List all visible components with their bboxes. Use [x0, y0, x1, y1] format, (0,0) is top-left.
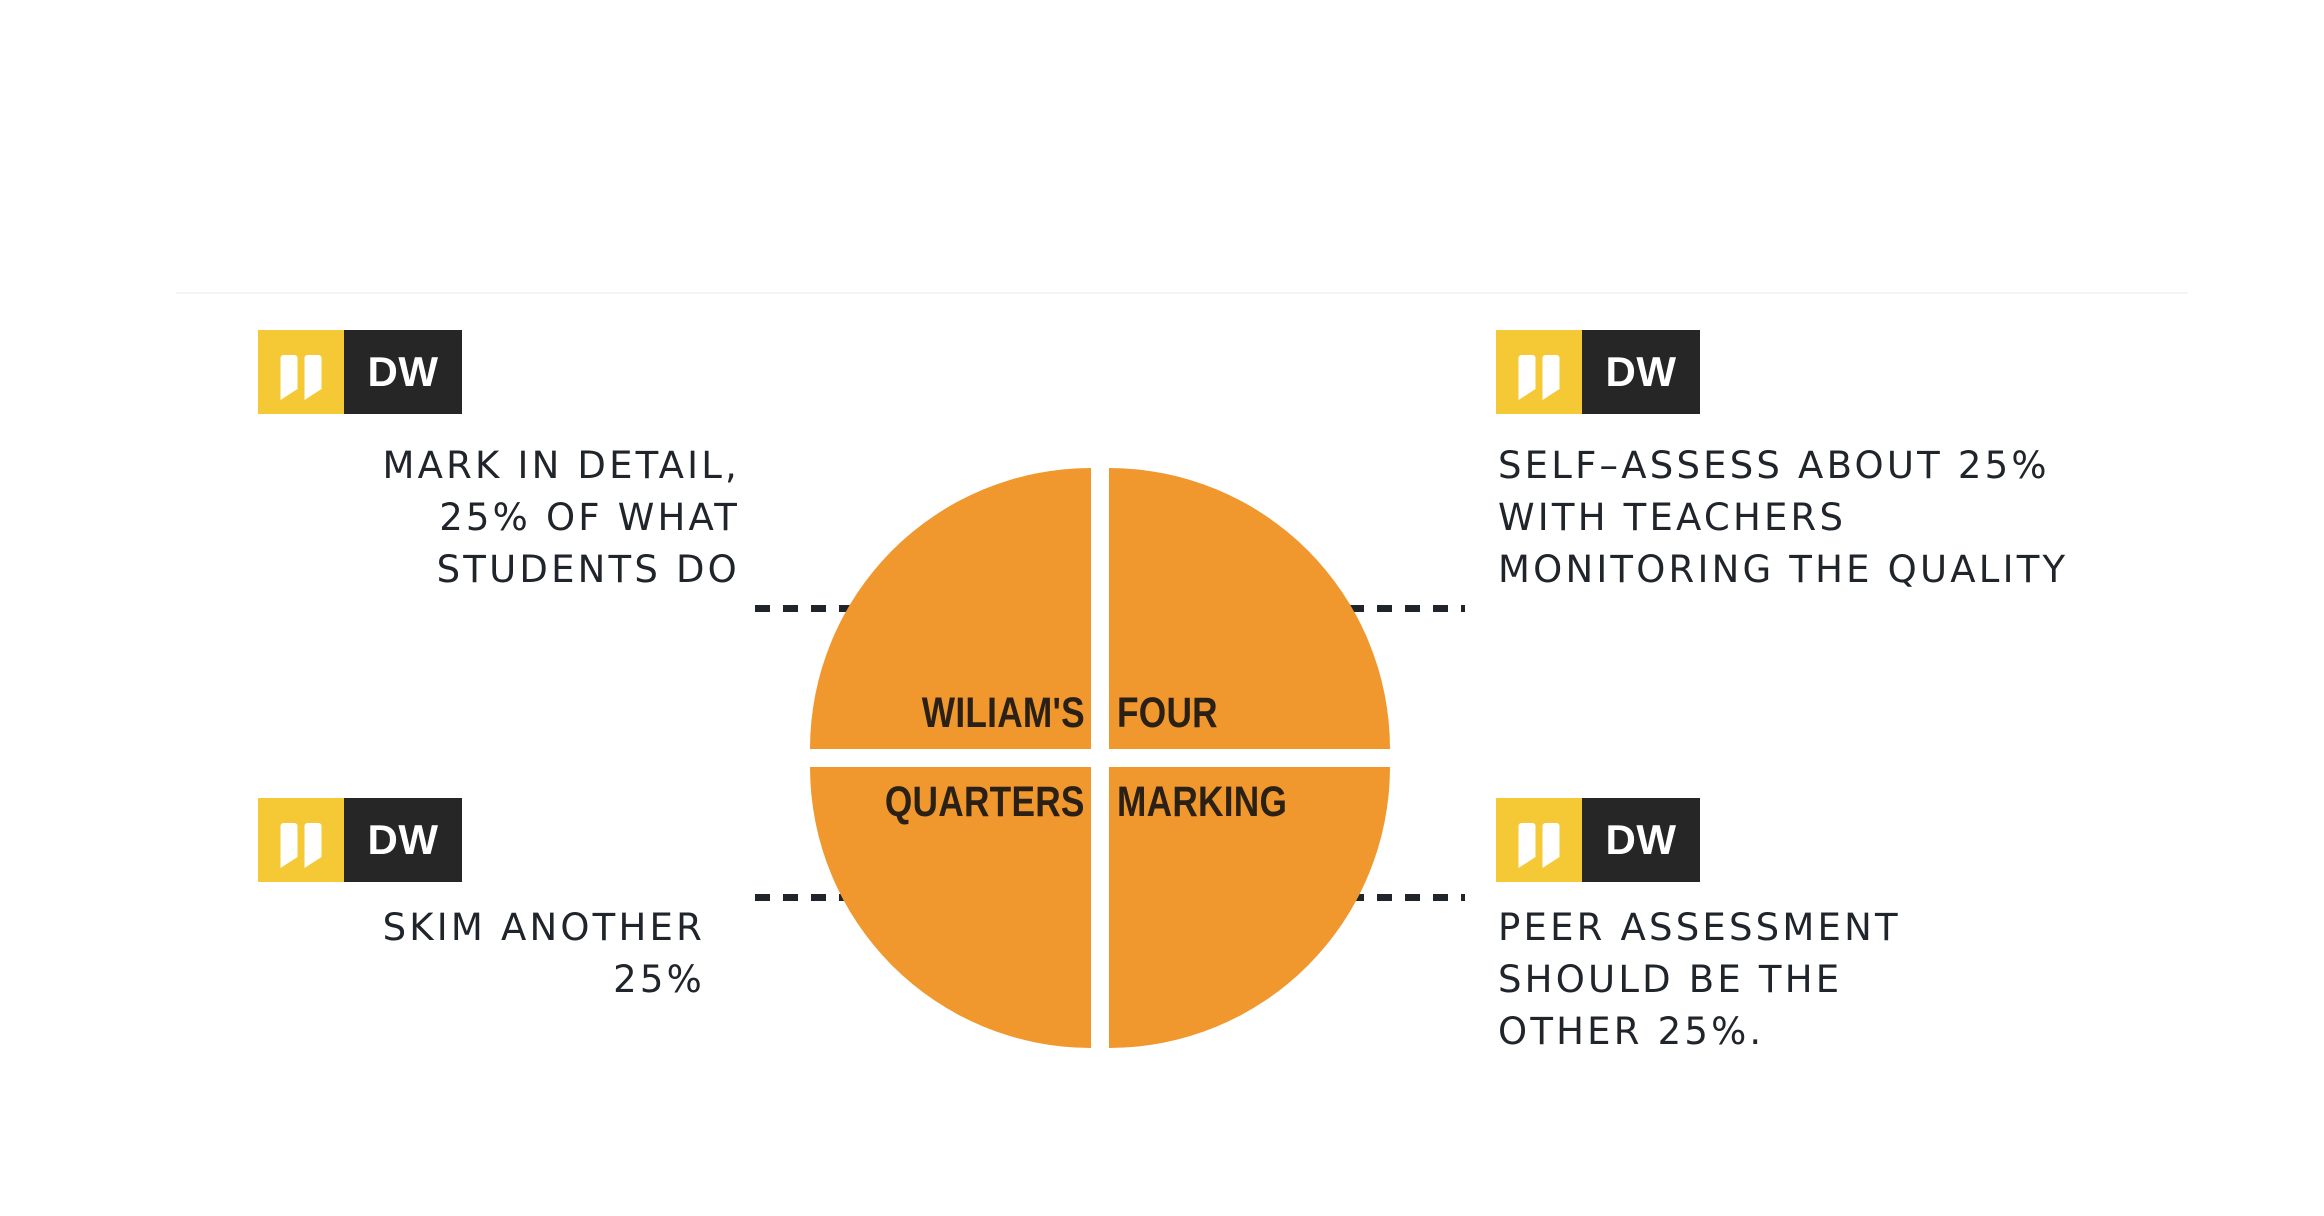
callout-line: 25% [200, 954, 705, 1006]
quote-mark-icon [258, 330, 344, 414]
quadrant-top-right: FOUR [1109, 468, 1390, 749]
quadrant-bottom-right: MARKING [1109, 767, 1390, 1048]
quadrant-bottom-left: QUARTERS [810, 767, 1091, 1048]
top-divider-rule [176, 292, 2188, 294]
callout-text-skim-another: SKIM ANOTHER 25% [200, 902, 705, 1006]
quote-mark-icon [1496, 798, 1582, 882]
double-quote-icon [1519, 823, 1560, 857]
dw-badge-self-assess: DW [1496, 330, 1700, 414]
callout-line: SKIM ANOTHER [200, 902, 705, 954]
callout-line: PEER ASSESSMENT [1498, 902, 2198, 954]
dw-initials-label: DW [344, 798, 462, 882]
double-quote-icon [1519, 355, 1560, 389]
quadrant-label: MARKING [1117, 781, 1287, 824]
callout-line: WITH TEACHERS [1498, 492, 2218, 544]
quote-mark-icon [258, 798, 344, 882]
callout-line: 25% OF WHAT [200, 492, 740, 544]
dw-initials-label: DW [1582, 798, 1700, 882]
callout-text-peer-assessment: PEER ASSESSMENT SHOULD BE THE OTHER 25%. [1498, 902, 2198, 1058]
dw-badge-mark-in-detail: DW [258, 330, 462, 414]
double-quote-icon [281, 355, 322, 389]
double-quote-icon [281, 823, 322, 857]
callout-line: SELF–ASSESS ABOUT 25% [1498, 440, 2218, 492]
four-quarters-circle: WILIAM'S FOUR QUARTERS MARKING [810, 468, 1390, 1048]
callout-line: OTHER 25%. [1498, 1006, 2198, 1058]
callout-text-mark-in-detail: MARK IN DETAIL, 25% OF WHAT STUDENTS DO [200, 440, 740, 596]
callout-line: STUDENTS DO [200, 544, 740, 596]
infographic-canvas: DW MARK IN DETAIL, 25% OF WHAT STUDENTS … [0, 0, 2324, 1216]
dw-initials-label: DW [1582, 330, 1700, 414]
callout-line: MARK IN DETAIL, [200, 440, 740, 492]
quadrant-label: QUARTERS [885, 781, 1085, 824]
callout-line: SHOULD BE THE [1498, 954, 2198, 1006]
callout-text-self-assess: SELF–ASSESS ABOUT 25% WITH TEACHERS MONI… [1498, 440, 2218, 596]
callout-line: MONITORING THE QUALITY [1498, 544, 2218, 596]
dw-initials-label: DW [344, 330, 462, 414]
dw-badge-peer-assessment: DW [1496, 798, 1700, 882]
quadrant-top-left: WILIAM'S [810, 468, 1091, 749]
quote-mark-icon [1496, 330, 1582, 414]
quadrant-label: FOUR [1117, 692, 1218, 735]
dw-badge-skim-another: DW [258, 798, 462, 882]
quadrant-label: WILIAM'S [922, 692, 1085, 735]
